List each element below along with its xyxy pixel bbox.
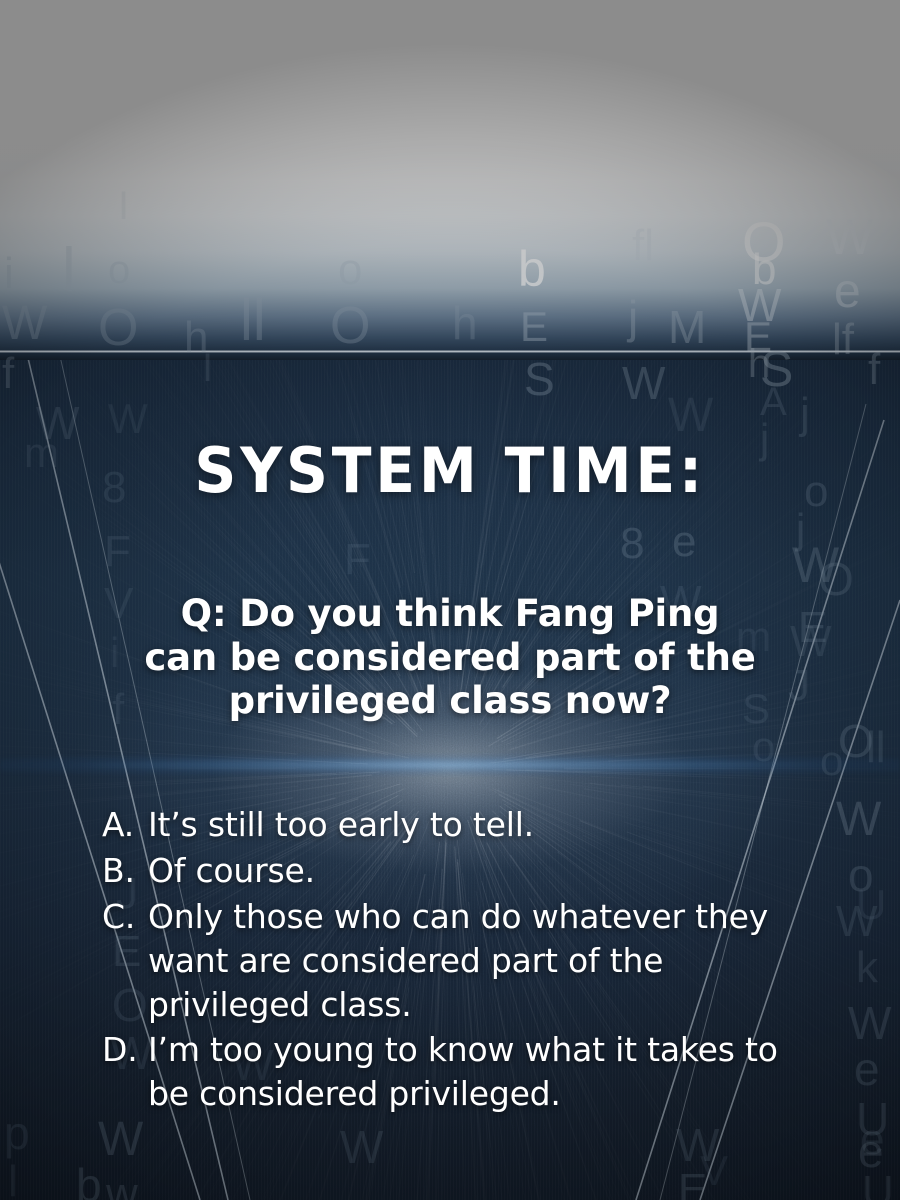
slide-content: SYSTEM TIME: Q: Do you think Fang Ping c… — [0, 0, 900, 1200]
slide-title-text: SYSTEM TIME: — [194, 440, 706, 502]
answer-option-text: Only those who can do whatever they want… — [148, 897, 768, 1024]
question-line-1: Q: Do you think Fang Ping — [92, 592, 808, 636]
answer-option-text: Of course. — [148, 851, 315, 890]
answer-option[interactable]: B.Of course. — [102, 849, 802, 893]
stencil-title-wrapper: SYSTEM TIME: — [178, 440, 722, 502]
question-text: Q: Do you think Fang Ping can be conside… — [92, 592, 808, 723]
answer-options-list: A.It’s still too early to tell.B.Of cour… — [102, 803, 802, 1118]
answer-option-text: I’m too young to know what it takes to b… — [148, 1030, 778, 1113]
question-line-3: privileged class now? — [92, 679, 808, 723]
answer-option[interactable]: D.I’m too young to know what it takes to… — [102, 1028, 802, 1116]
answer-option-mark: D. — [102, 1028, 142, 1072]
answer-option[interactable]: C.Only those who can do whatever they wa… — [102, 895, 802, 1027]
slide-title: SYSTEM TIME: — [0, 440, 900, 502]
answer-option-text: It’s still too early to tell. — [148, 805, 534, 844]
answer-option-mark: B. — [102, 849, 142, 893]
answer-option-mark: C. — [102, 895, 142, 939]
answer-option[interactable]: A.It’s still too early to tell. — [102, 803, 802, 847]
answer-option-mark: A. — [102, 803, 142, 847]
quiz-slide: iloIWOllhoOhbEfljMObWEhWelffISWSfWmAjjWW… — [0, 0, 900, 1200]
question-line-2: can be considered part of the — [92, 636, 808, 680]
